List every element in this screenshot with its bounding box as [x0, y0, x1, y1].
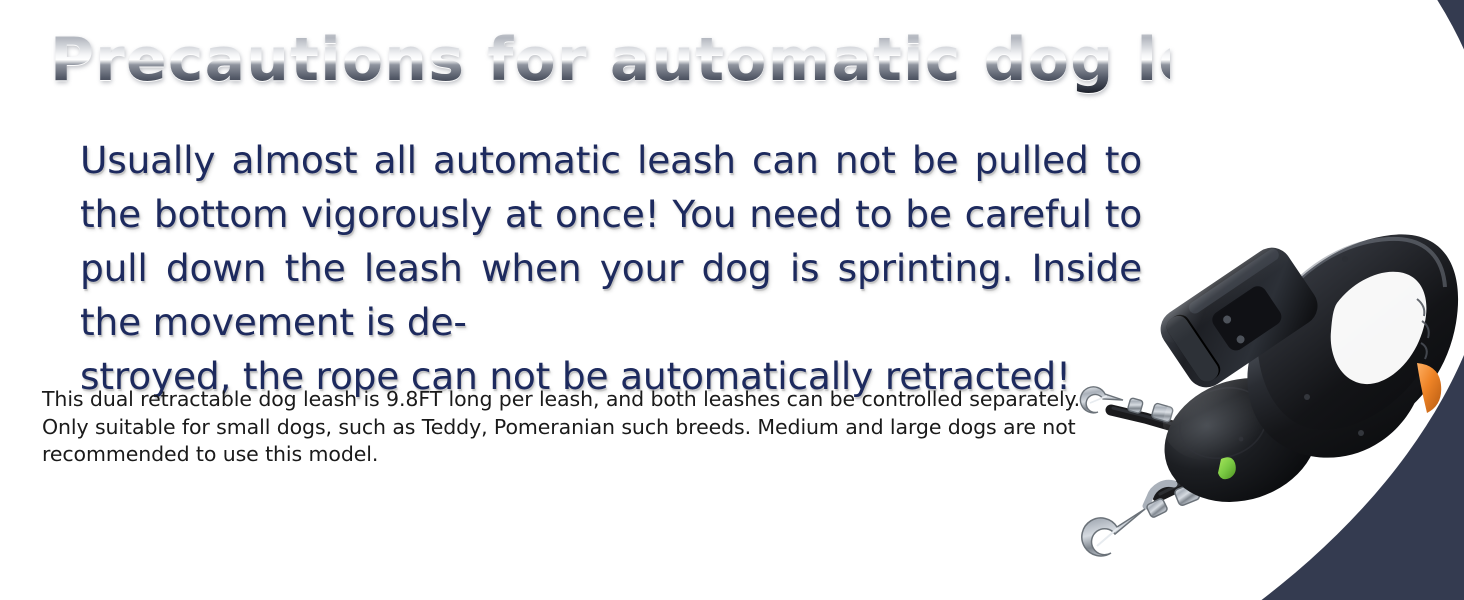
description-line-1: This dual retractable dog leash is 9.8FT… [42, 387, 1080, 411]
description-line-2: Only suitable for small dogs, such as Te… [42, 415, 1076, 439]
warning-paragraph: Usually almost all automatic leash can n… [80, 133, 1142, 403]
product-info-banner: Precautions for automatic dog leash Usua… [0, 0, 1464, 600]
page-title: Precautions for automatic dog leash [50, 29, 1170, 93]
description-paragraph: This dual retractable dog leash is 9.8FT… [42, 386, 1087, 469]
description-line-3: recommended to use this model. [42, 442, 378, 466]
